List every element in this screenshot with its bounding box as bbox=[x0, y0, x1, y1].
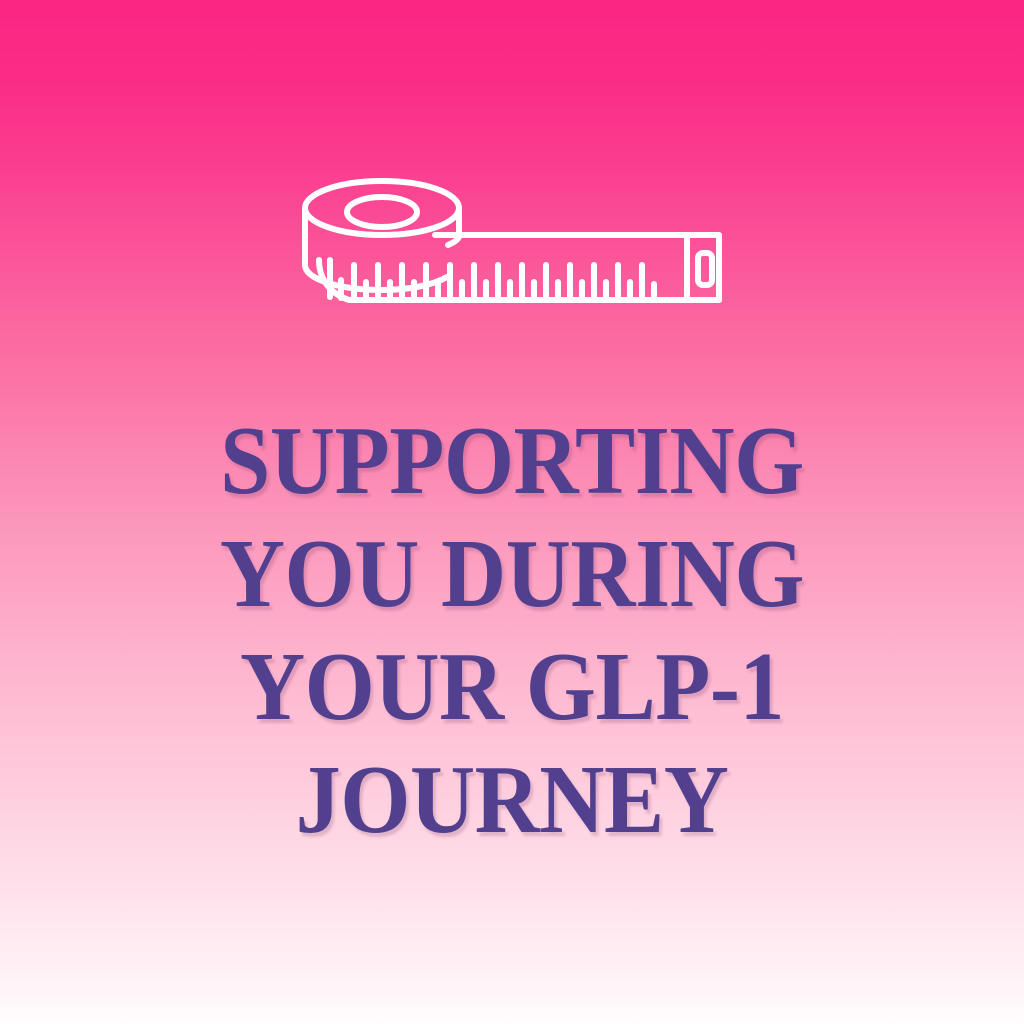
poster-canvas: SUPPORTING YOU DURING YOUR GLP-1 JOURNEY bbox=[0, 0, 1024, 1024]
headline-line-4: JOURNEY bbox=[92, 743, 933, 856]
headline-line-3: YOUR GLP-1 bbox=[92, 630, 933, 743]
headline-line-2: YOU DURING bbox=[92, 517, 933, 630]
headline-line-1: SUPPORTING bbox=[92, 404, 933, 517]
page-title: SUPPORTING YOU DURING YOUR GLP-1 JOURNEY bbox=[0, 404, 1024, 856]
